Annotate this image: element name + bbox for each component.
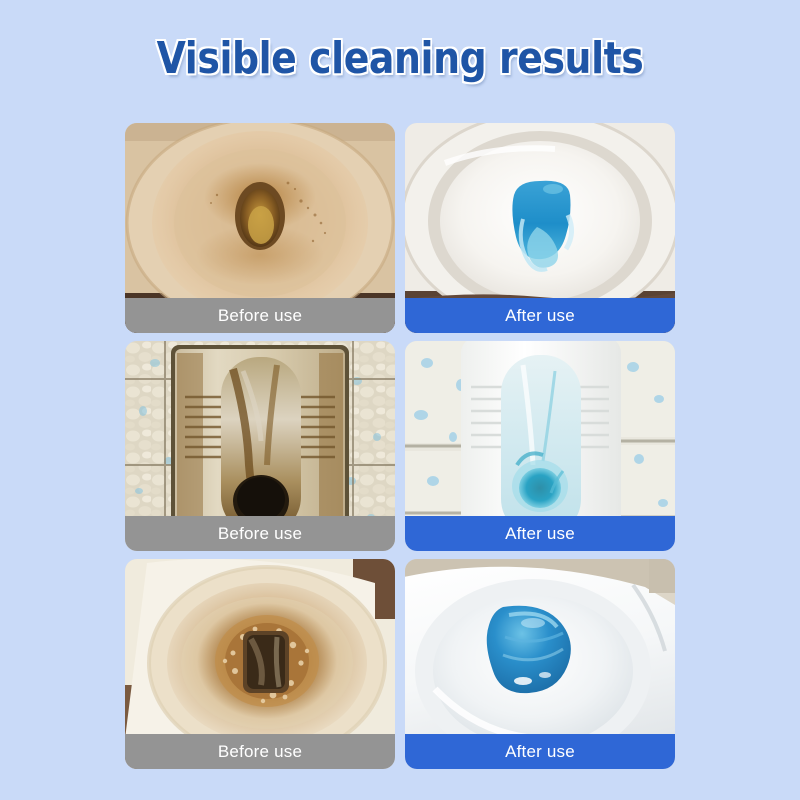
promo-page: Visible cleaning results [0, 0, 800, 800]
page-title: Visible cleaning results [157, 34, 644, 84]
comparison-card-row2-after[interactable]: After use [405, 341, 675, 551]
comparison-card-row3-before[interactable]: Before use [125, 559, 395, 769]
card-caption-before: Before use [125, 734, 395, 769]
comparison-card-row3-after[interactable]: After use [405, 559, 675, 769]
comparison-grid: Before use [125, 123, 675, 769]
card-caption-after: After use [405, 516, 675, 551]
card-caption-after: After use [405, 298, 675, 333]
comparison-card-row2-before[interactable]: Before use [125, 341, 395, 551]
page-title-container: Visible cleaning results [0, 34, 800, 84]
card-caption-before: Before use [125, 516, 395, 551]
card-caption-before: Before use [125, 298, 395, 333]
card-caption-after: After use [405, 734, 675, 769]
comparison-card-row1-before[interactable]: Before use [125, 123, 395, 333]
comparison-card-row1-after[interactable]: After use [405, 123, 675, 333]
